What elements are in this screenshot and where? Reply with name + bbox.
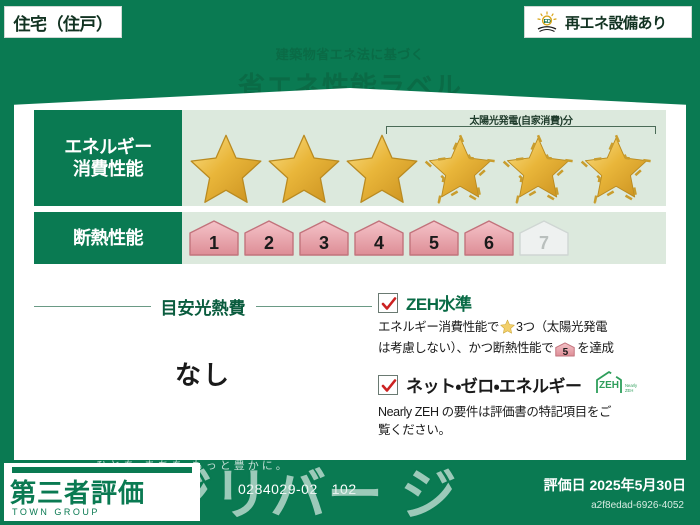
zeh-desc-part2: 3つ（太陽光発電 [516,320,607,334]
net-zero-description: Nearly ZEH の要件は評価書の特記項目をご覧ください。 [378,403,666,439]
lower-section: 目安光熱費 なし ZEH水準 エネルギー消費性能で3つ（太陽光発電は考慮しない）… [34,286,666,446]
zeh-desc-part4: を達成 [577,341,613,355]
footer-code-value: 0284029-02 [238,481,318,497]
label-card: エネルギー 消費性能 太陽光発電(自家消費)分 [14,88,686,460]
insulation-badge-5: 5 [408,219,460,257]
renewable-energy-badge: ED 再エネ設備あり [524,6,692,38]
insulation-badge-4: 4 [353,219,405,257]
star-solid [266,132,342,209]
insulation-grade-value: 3 [319,233,329,254]
solar-note-label: 太陽光発電(自家消費)分 [386,112,656,127]
insulation-badge-3: 3 [298,219,350,257]
utility-cost-heading: 目安光熱費 [34,294,372,319]
evaluation-id: a2f8edad-6926-4052 [591,500,684,511]
renewable-energy-label: 再エネ設備あり [565,12,667,33]
title-subtitle: 建築物省エネ法に基づく [0,44,700,63]
star-rating [188,132,654,209]
insulation-grade-value: 2 [264,233,274,254]
inline-grade-value: 5 [563,347,568,358]
star-solid [344,132,420,209]
insulation-performance-label: 断熱性能 [34,212,182,264]
check-icon [381,378,397,394]
zeh-level-title: ZEH水準 [406,290,472,315]
star-solid [188,132,264,209]
evaluation-date: 評価日 2025年5月30日 [544,475,686,495]
zeh-desc-part1: エネルギー消費性能で [378,320,499,334]
footer-code: 0284029-02102 [238,481,357,497]
insulation-performance-body: 1 2 3 4 [182,212,666,264]
insulation-performance-row: 断熱性能 1 2 3 [34,212,666,264]
star-solar-dashed [500,132,576,209]
net-zero-desc-line2: 覧ください。 [378,423,451,437]
building-type-tag: 住宅（住戸） [4,6,122,38]
insulation-badge-1: 1 [188,219,240,257]
net-zero-title: ネット・ゼロ・エネルギー [406,372,582,397]
utility-cost-section: 目安光熱費 なし [34,286,372,446]
zeh-level-block: ZEH水準 エネルギー消費性能で3つ（太陽光発電は考慮しない）、かつ断熱性能で5… [378,290,666,357]
zeh-desc-part3: は考慮しない）、かつ断熱性能で [378,341,553,355]
check-icon [381,296,397,312]
zeh-section: ZEH水準 エネルギー消費性能で3つ（太陽光発電は考慮しない）、かつ断熱性能で5… [372,286,666,446]
svg-text:ZEH: ZEH [625,388,633,393]
energy-performance-row: エネルギー 消費性能 太陽光発電(自家消費)分 [34,110,666,206]
performance-rows: エネルギー 消費性能 太陽光発電(自家消費)分 [34,110,666,270]
inline-grade-badge: 5 [555,342,575,357]
net-zero-checkbox[interactable] [378,375,398,395]
energy-performance-label: エネルギー 消費性能 [34,110,182,206]
energy-label-page: 住宅（住戸） ED 再エネ設備あり 建築物省エネ法に基づく 省エネ性能ラ [0,0,700,525]
net-zero-desc-line1: Nearly ZEH の要件は評価書の特記項目をご [378,405,611,419]
energy-label-line1: エネルギー [64,136,152,159]
zeh-level-heading: ZEH水準 [378,290,666,315]
insulation-grade-value: 1 [209,233,219,254]
logo-main-text: 第三者評価 [10,473,145,510]
insulation-badge-7: 7 [518,219,570,257]
footer-unit-value: 102 [332,481,357,497]
svg-text:ZEH: ZEH [599,380,619,391]
star-solar-dashed [422,132,498,209]
utility-cost-label: 目安光熱費 [161,294,246,319]
insulation-badge-2: 2 [243,219,295,257]
zeh-level-description: エネルギー消費性能で3つ（太陽光発電は考慮しない）、かつ断熱性能で5を達成 [378,318,666,357]
insulation-label-text: 断熱性能 [73,227,143,250]
insulation-badge-6: 6 [463,219,515,257]
building-type-label: 住宅（住戸） [14,10,113,35]
star-solar-dashed [578,132,654,209]
divider-left [34,306,151,307]
insulation-grade-badges: 1 2 3 4 [188,219,570,257]
zeh-logo-icon: ZEH Nearly ZEH [594,369,640,400]
divider-right [256,306,373,307]
zeh-level-checkbox[interactable] [378,293,398,313]
insulation-grade-value: 7 [539,233,549,254]
insulation-grade-value: 5 [429,233,439,254]
energy-label-line2: 消費性能 [73,158,143,181]
insulation-grade-value: 6 [484,233,494,254]
utility-cost-value: なし [34,355,372,392]
energy-performance-body: 太陽光発電(自家消費)分 [182,110,666,206]
net-zero-block: ネット・ゼロ・エネルギー ZEH Nearly ZEH Nearly ZEH の… [378,369,666,439]
sun-icon: ED [535,11,559,33]
town-group-logo: 第三者評価 TOWN GROUP [4,463,200,521]
net-zero-heading: ネット・ゼロ・エネルギー ZEH Nearly ZEH [378,369,666,400]
svg-text:ED: ED [544,19,551,25]
star-icon [500,323,515,337]
insulation-grade-value: 4 [374,233,384,254]
logo-sub-text: TOWN GROUP [12,507,100,517]
